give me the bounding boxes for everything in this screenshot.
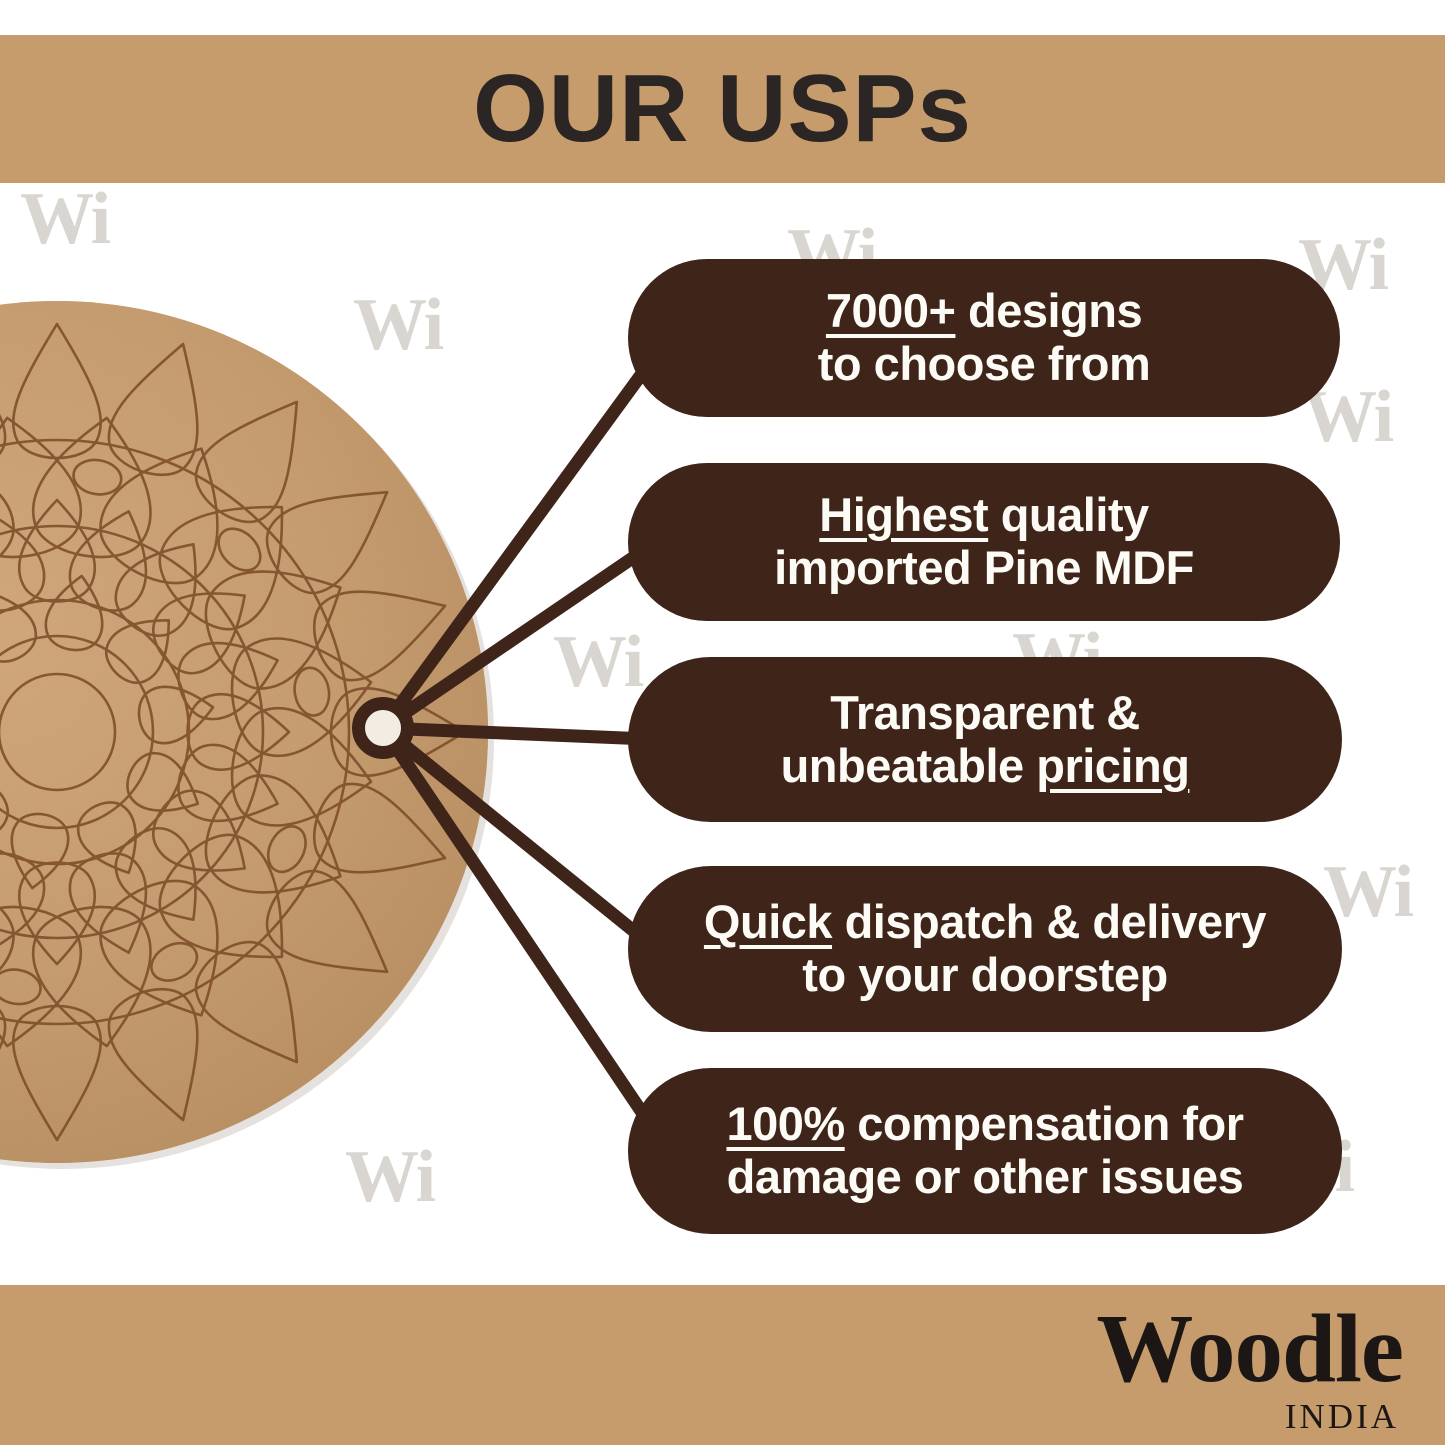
usp-run: to your doorstep [802, 948, 1167, 1001]
header-band: OUR USPs [0, 35, 1445, 183]
usp-pill-pricing[interactable]: Transparent &unbeatable pricing [628, 657, 1342, 822]
usp-highlight: 100% [726, 1097, 844, 1150]
usp-highlight: Quick [704, 895, 832, 948]
watermark-wi: Wi [553, 625, 642, 699]
usp-run: unbeatable [781, 739, 1037, 792]
usp-run: designs [955, 284, 1142, 337]
watermark-wi: Wi [20, 182, 109, 256]
usp-pill-compensation[interactable]: 100% compensation fordamage or other iss… [628, 1068, 1342, 1234]
usp-line: damage or other issues [726, 1151, 1243, 1204]
usp-line: to choose from [818, 338, 1150, 391]
usp-line: 7000+ designs [818, 285, 1150, 338]
hub-node [352, 697, 414, 759]
usp-pill-quality[interactable]: Highest qualityimported Pine MDF [628, 463, 1340, 621]
usp-pill-dispatch[interactable]: Quick dispatch & deliveryto your doorste… [628, 866, 1342, 1032]
usp-infographic: WiWiWiWiWiWiWiWiWiWi [0, 0, 1445, 1445]
usp-text-dispatch: Quick dispatch & deliveryto your doorste… [704, 896, 1266, 1001]
brand-name: Woodle [1096, 1300, 1403, 1397]
usp-highlight: pricing [1036, 739, 1189, 792]
watermark-wi: Wi [1323, 855, 1412, 929]
usp-run: to choose from [818, 337, 1150, 390]
usp-pill-designs[interactable]: 7000+ designsto choose from [628, 259, 1340, 417]
mandala-mdf-artwork [0, 295, 495, 1170]
usp-line: unbeatable pricing [781, 740, 1190, 793]
usp-highlight: Highest [819, 488, 988, 541]
page-title: OUR USPs [473, 54, 972, 164]
usp-text-pricing: Transparent &unbeatable pricing [781, 687, 1190, 792]
usp-run: dispatch & delivery [832, 895, 1266, 948]
usp-line: 100% compensation for [726, 1098, 1243, 1151]
usp-run: quality [988, 488, 1149, 541]
usp-line: Transparent & [781, 687, 1190, 740]
usp-text-quality: Highest qualityimported Pine MDF [774, 489, 1194, 594]
usp-line: to your doorstep [704, 949, 1266, 1002]
usp-run: imported Pine MDF [774, 541, 1194, 594]
usp-text-designs: 7000+ designsto choose from [818, 285, 1150, 390]
brand-subtitle: INDIA [1096, 1399, 1399, 1434]
usp-line: Highest quality [774, 489, 1194, 542]
usp-run: compensation for [845, 1097, 1244, 1150]
usp-run: Transparent & [830, 686, 1140, 739]
brand-logo[interactable]: Woodle INDIA [1096, 1300, 1403, 1434]
usp-run: damage or other issues [727, 1150, 1244, 1203]
usp-line: Quick dispatch & delivery [704, 896, 1266, 949]
usp-highlight: 7000+ [826, 284, 956, 337]
usp-line: imported Pine MDF [774, 542, 1194, 595]
usp-text-compensation: 100% compensation fordamage or other iss… [726, 1098, 1243, 1203]
